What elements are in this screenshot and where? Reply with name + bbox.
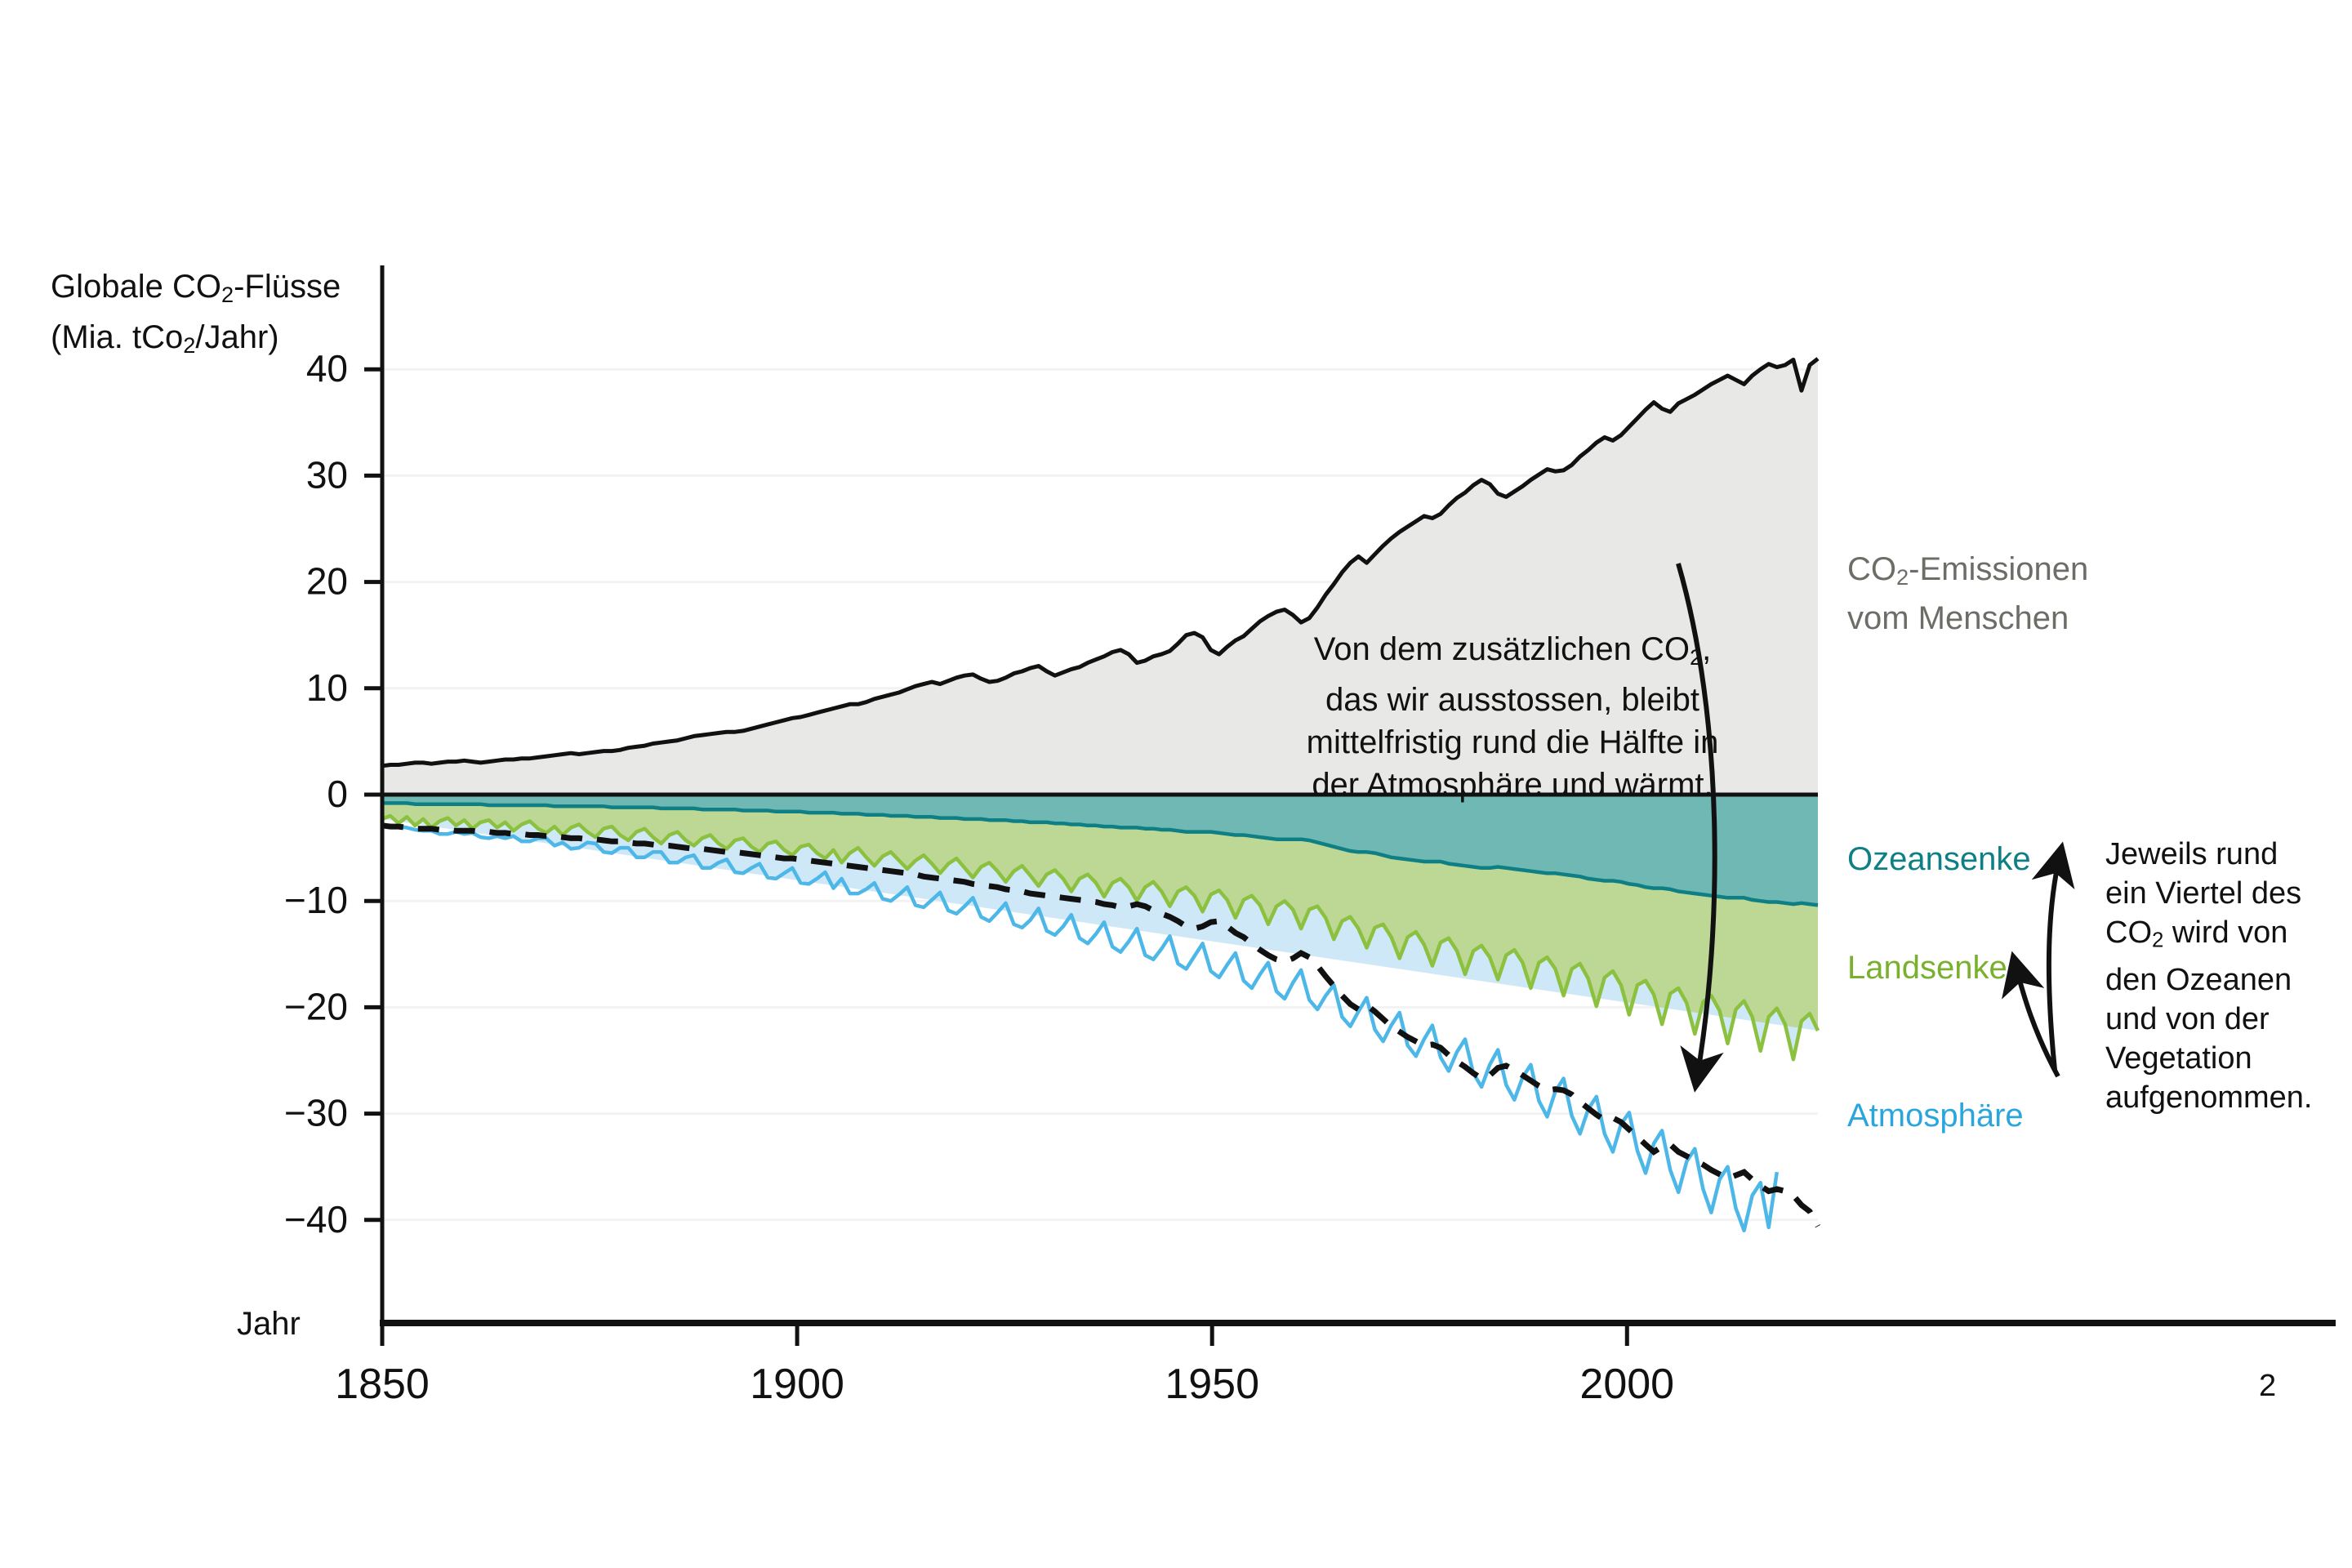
x-tick-label: 1850 [335,1361,430,1408]
center-annotation-line1: Von dem zusätzlichen CO2, [1284,628,1741,679]
y-tick-group: 403020100−10−20−30−40 [284,347,382,1241]
legend-atmosphere: Atmosphäre [1847,1095,2024,1136]
x-tick-label: 1950 [1165,1361,1259,1408]
y-axis-title-line2: (Mia. tCo2/Jahr) [51,319,279,355]
center-annotation: Von dem zusätzlichen CO2, das wir aussto… [1284,628,1741,806]
y-tick-label: −30 [284,1092,348,1134]
x-tick-label: 2000 [1579,1361,1674,1408]
legend-emissions-line1: CO2-Emissionen [1847,551,2088,587]
legend-ocean: Ozeansenke [1847,839,2031,880]
y-axis-title-line1: Globale CO2-Flüsse [51,269,341,305]
y-tick-label: −20 [284,985,348,1027]
center-annotation-line2: das wir ausstossen, bleibt [1284,679,1741,721]
x-axis-title: Jahr [237,1306,301,1343]
chart-page: 403020100−10−20−30−40 1850190019502000 G… [0,0,2352,1568]
page-number: 2 [2259,1369,2276,1404]
co2-flux-chart: 403020100−10−20−30−40 1850190019502000 [0,0,2352,1568]
right-annotation: Jeweils rund ein Viertel des CO2 wird vo… [2105,835,2326,1117]
x-tick-label: 1900 [750,1361,844,1408]
y-tick-label: −40 [284,1198,348,1241]
y-tick-label: −10 [284,879,348,921]
y-tick-label: 0 [327,773,348,815]
legend-emissions: CO2-Emissionen vom Menschen [1847,549,2088,639]
y-tick-label: 10 [306,666,348,709]
x-tick-group: 1850190019502000 [335,1323,1674,1408]
legend-emissions-line2: vom Menschen [1847,600,2069,636]
y-tick-label: 30 [306,453,348,496]
legend-land: Landsenke [1847,947,2007,988]
center-annotation-line3: mittelfristig rund die Hälfte in [1284,721,1741,764]
y-axis-title: Globale CO2-Flüsse (Mia. tCo2/Jahr) [51,265,341,367]
center-annotation-line4: der Atmosphäre und wärmt. [1284,764,1741,806]
y-tick-label: 20 [306,560,348,603]
